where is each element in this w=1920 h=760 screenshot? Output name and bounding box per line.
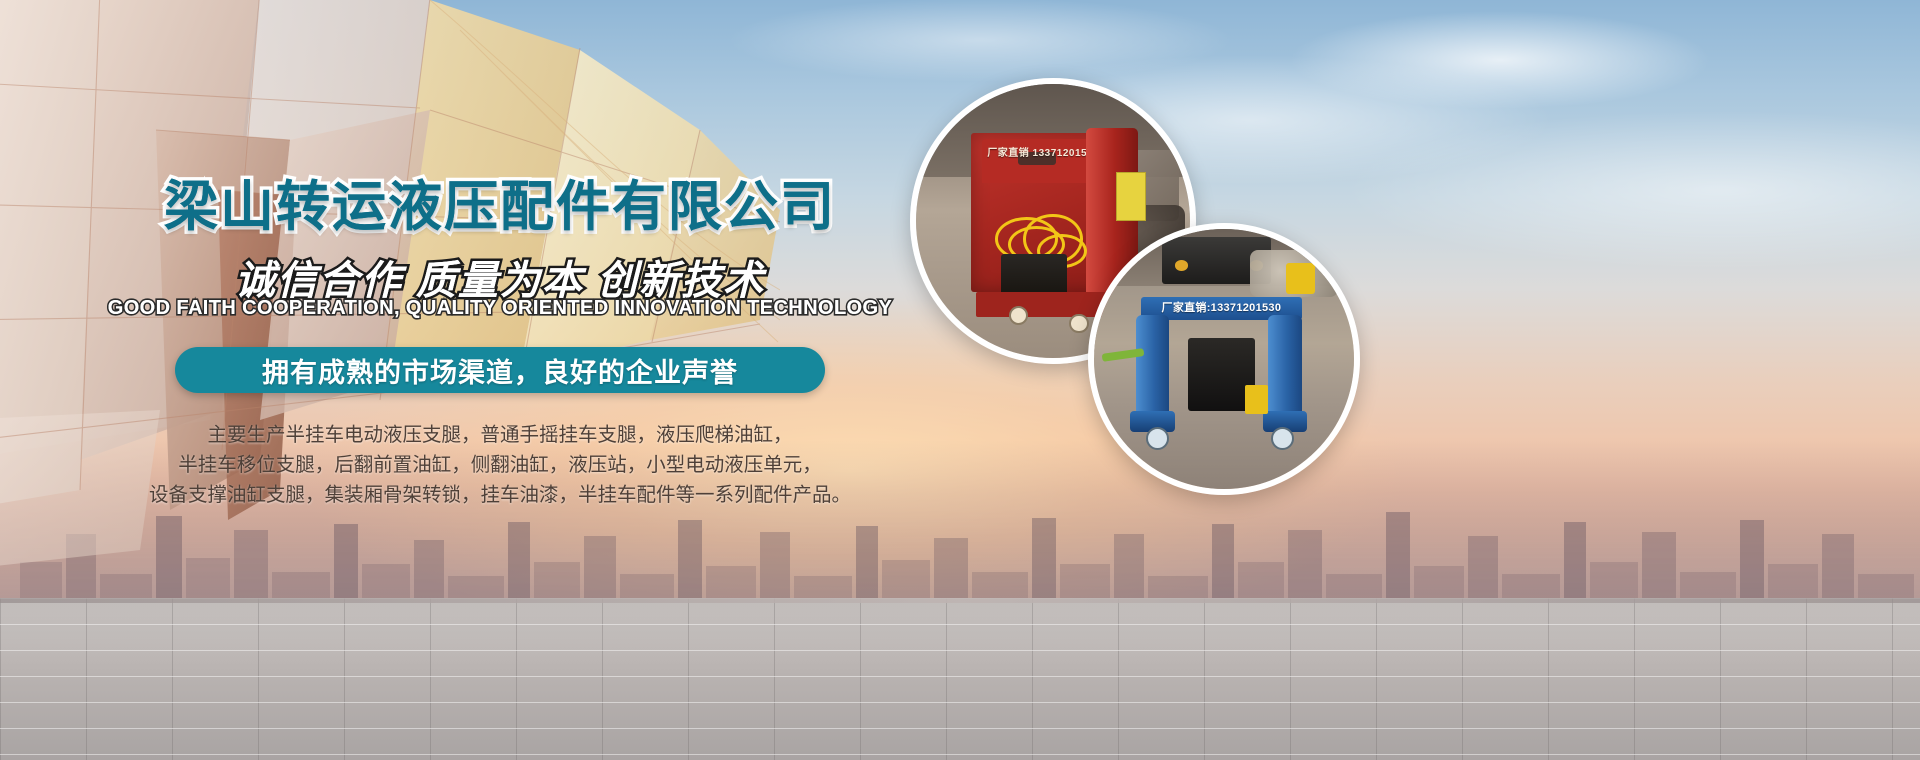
photo-blue-content: 厂家直销:13371201530 [1094, 229, 1354, 489]
photo-blue-leg-right [1268, 315, 1302, 419]
headline-copy-block: 梁山转运液压配件有限公司 梁山转运液压配件有限公司 诚信合作 质量为本 创新技术… [0, 0, 1000, 760]
product-photo-blue-hydraulic-unit: 厂家直销:13371201530 [1088, 223, 1360, 495]
photo-blue-caption-text: 厂家直销:13371201530 [1146, 299, 1297, 315]
photo-red-motor [1001, 254, 1067, 298]
page-title: 梁山转运液压配件有限公司 [0, 162, 1000, 241]
description-line-1: 主要生产半挂车电动液压支腿，普通手摇挂车支腿，液压爬梯油缸， [0, 420, 1000, 450]
photo-red-base-frame [976, 292, 1108, 317]
photo-blue-leg-left [1136, 315, 1170, 419]
description-line-3: 设备支撑油缸支腿，集装厢骨架转锁，挂车油漆，半挂车配件等一系列配件产品。 [0, 480, 1000, 510]
description-line-2: 半挂车移位支腿，后翻前置油缸，侧翻油缸，液压站，小型电动液压单元， [0, 450, 1000, 480]
photo-blue-caster-right [1271, 427, 1294, 450]
slogan-english: GOOD FAITH COOPERATION, QUALITY ORIENTED… [0, 297, 1000, 320]
photo-blue-yellow-box [1245, 385, 1268, 414]
product-description: 主要生产半挂车电动液压支腿，普通手摇挂车支腿，液压爬梯油缸， 半挂车移位支腿，后… [0, 420, 1000, 510]
photo-red-warning-label [1116, 172, 1146, 221]
highlight-badge: 拥有成熟的市场渠道，良好的企业声誉 [175, 347, 825, 393]
photo-blue-truck-lamp-left [1175, 260, 1188, 270]
company-hero-banner: 梁山转运液压配件有限公司 梁山转运液压配件有限公司 诚信合作 质量为本 创新技术… [0, 0, 1920, 760]
highlight-badge-label: 拥有成熟的市场渠道，良好的企业声誉 [262, 351, 738, 390]
photo-blue-yellow-part [1286, 263, 1315, 294]
photo-red-caster-right [1069, 314, 1088, 333]
